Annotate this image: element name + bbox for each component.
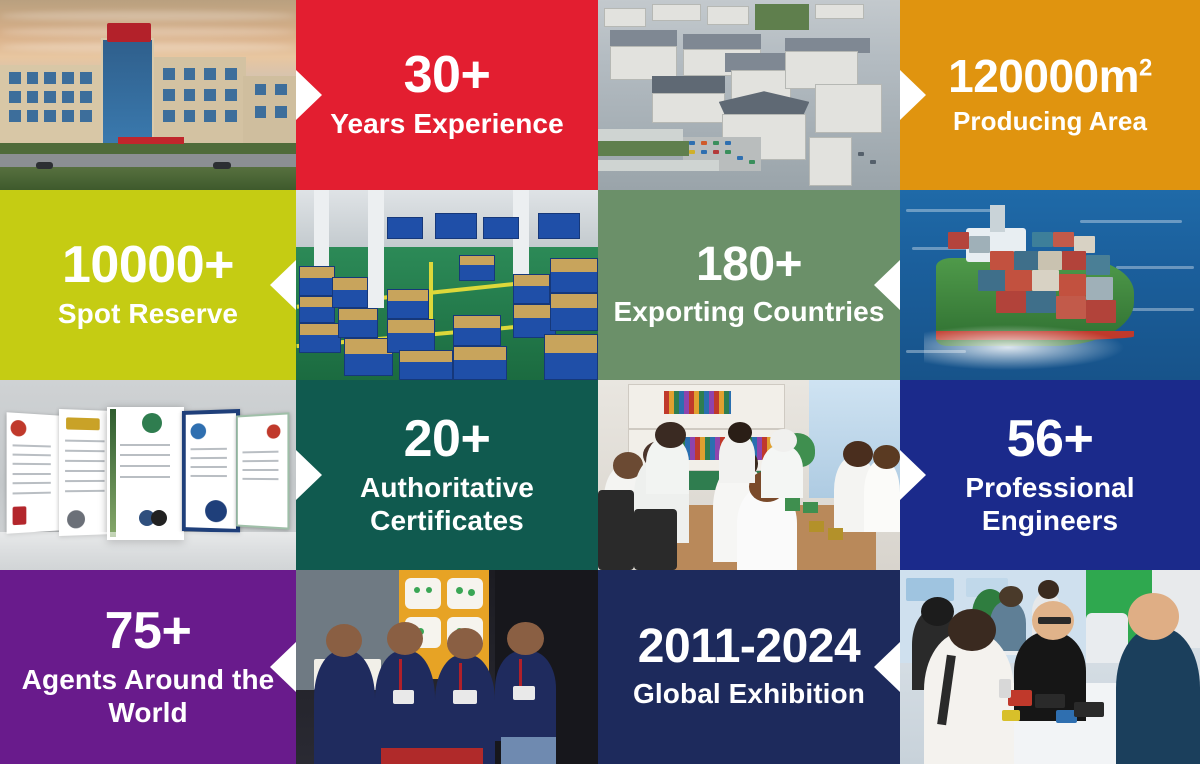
stat-years-experience: 30+ Years Experience (296, 0, 598, 190)
arrow-left-icon (874, 642, 900, 692)
stat-label: Exporting Countries (613, 296, 884, 328)
arrow-left-icon (874, 260, 900, 310)
stat-label: Agents Around the World (10, 664, 286, 729)
stat-value: 2011-2024 (638, 623, 860, 672)
arrow-right-icon (900, 70, 926, 120)
factory-aerial-photo (598, 0, 900, 190)
stat-value: 56+ (1007, 413, 1094, 466)
stat-authoritative-certificates: 20+ Authoritative Certificates (296, 380, 598, 570)
cell-factory-aerial (598, 0, 900, 190)
stat-value: 20+ (404, 413, 491, 466)
arrow-right-icon (296, 450, 322, 500)
cell-warehouse (296, 190, 598, 380)
stat-value: 120000m2 (948, 53, 1152, 100)
stat-label: Global Exhibition (633, 678, 865, 710)
arrow-left-icon (270, 260, 296, 310)
stat-exporting-countries: 180+ Exporting Countries (598, 190, 900, 380)
cell-certificates-photo (0, 380, 296, 570)
agents-group-photo (296, 570, 598, 764)
stat-professional-engineers: 56+ Professional Engineers (900, 380, 1200, 570)
certificates-photo (0, 380, 296, 570)
stat-global-exhibition: 2011-2024 Global Exhibition (598, 570, 900, 764)
stat-value: 180+ (696, 241, 802, 290)
cell-team-meeting (598, 380, 900, 570)
stat-label: Spot Reserve (58, 298, 238, 330)
stat-value: 30+ (404, 49, 491, 102)
stat-label: Producing Area (953, 106, 1147, 136)
office-building-photo (0, 0, 296, 190)
cell-exhibition-photo (900, 570, 1200, 764)
stat-label: Authoritative Certificates (306, 472, 588, 537)
stat-value: 75+ (105, 605, 192, 658)
arrow-right-icon (900, 450, 926, 500)
warehouse-photo (296, 190, 598, 380)
stats-infographic-grid: 30+ Years Experience (0, 0, 1200, 764)
exhibition-booth-photo (900, 570, 1200, 764)
stat-label: Professional Engineers (910, 472, 1190, 537)
arrow-left-icon (270, 642, 296, 692)
stat-label: Years Experience (330, 108, 564, 140)
cell-agents-photo (296, 570, 598, 764)
cell-office-building (0, 0, 296, 190)
stat-producing-area: 120000m2 Producing Area (900, 0, 1200, 190)
stat-spot-reserve: 10000+ Spot Reserve (0, 190, 296, 380)
team-meeting-photo (598, 380, 900, 570)
stat-value: 10000+ (62, 239, 234, 292)
arrow-right-icon (296, 70, 322, 120)
stat-agents-around-world: 75+ Agents Around the World (0, 570, 296, 764)
container-ship-photo (900, 190, 1200, 380)
cell-container-ship (900, 190, 1200, 380)
